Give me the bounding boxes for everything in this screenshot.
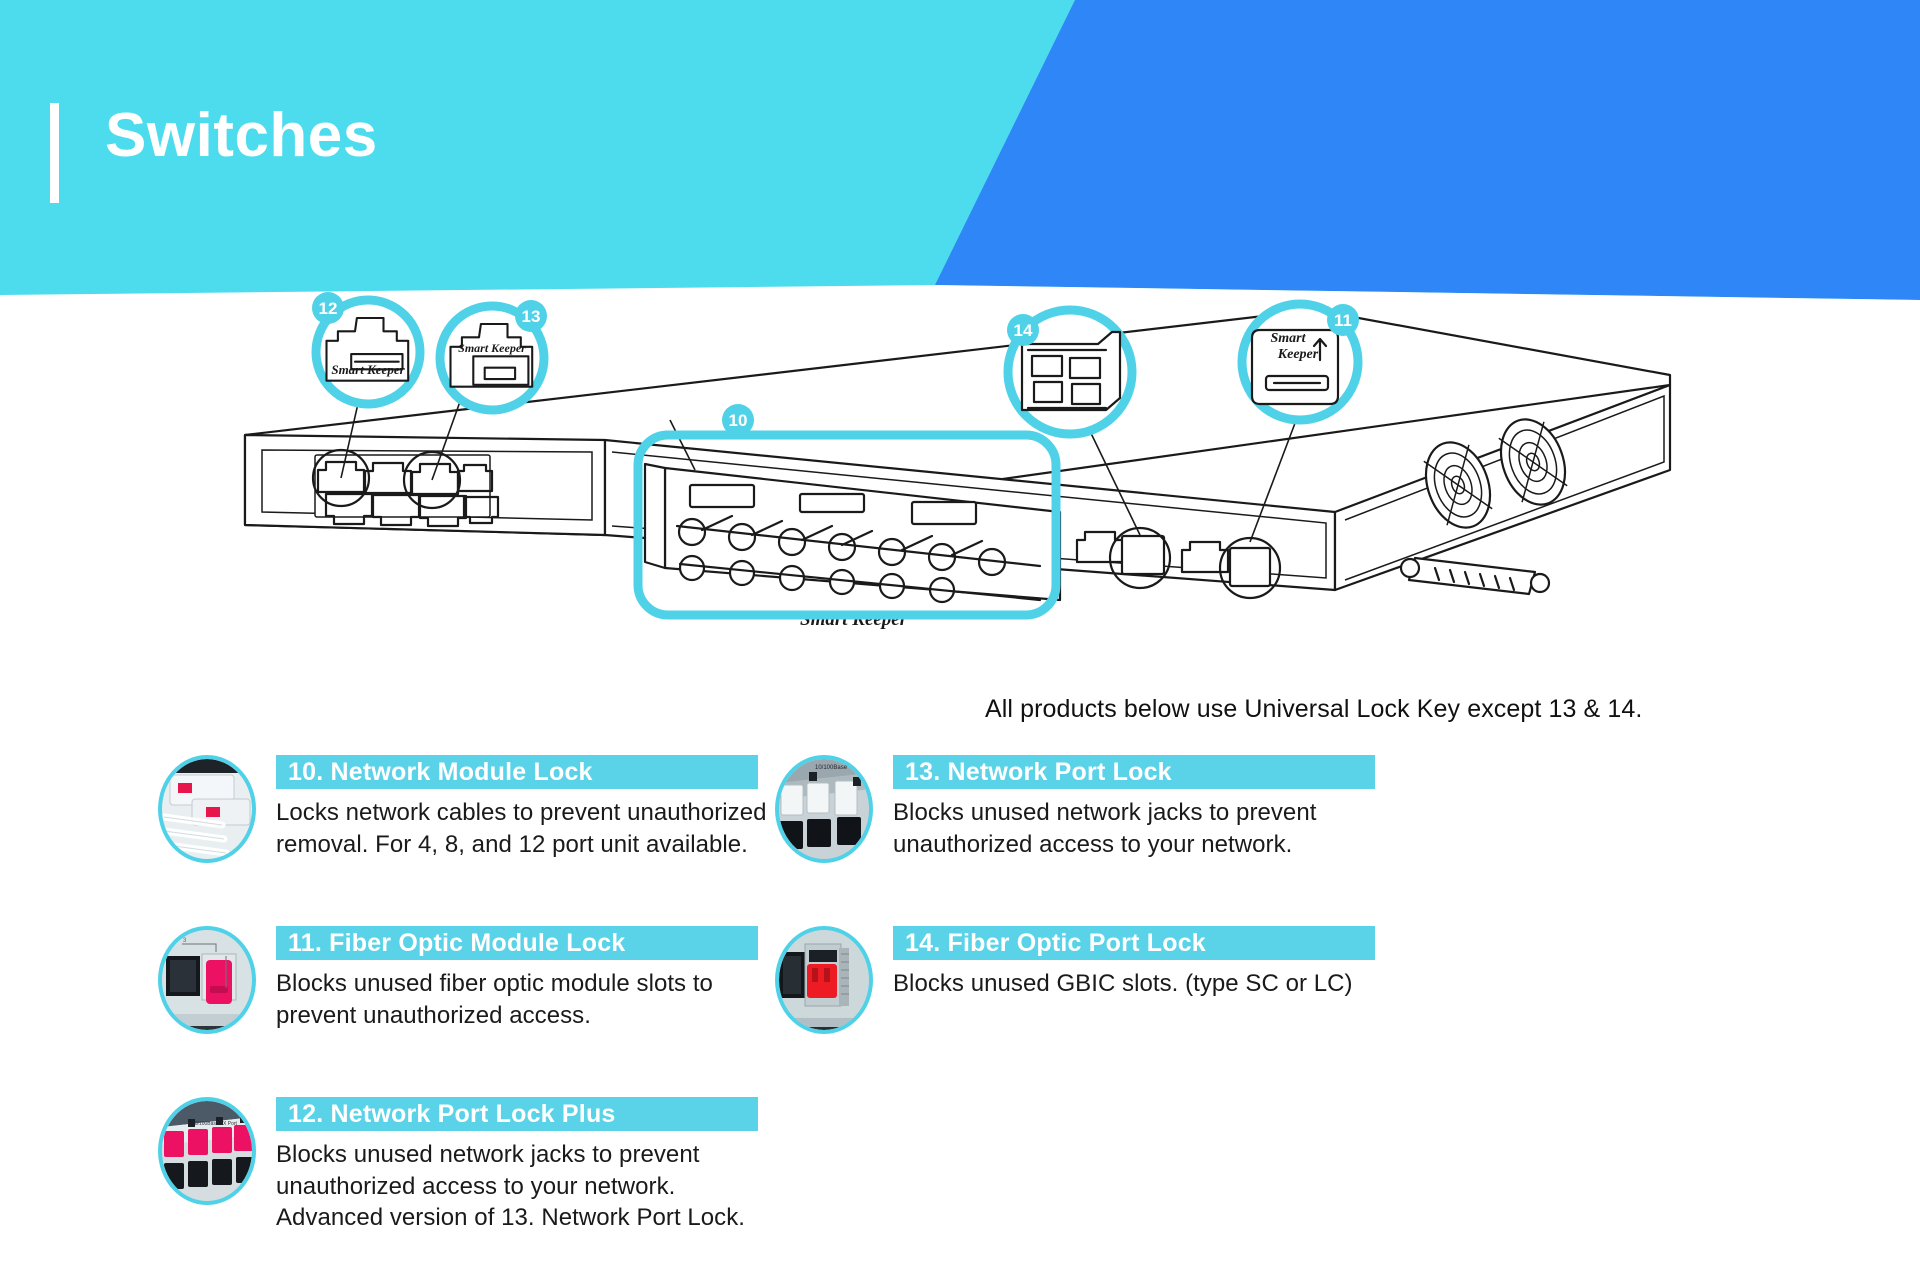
callout-11-brand-line2: Keeper (1277, 347, 1319, 362)
network-port-lock-image: 10/100Base (779, 759, 869, 859)
product-card-13-description: Blocks unused network jacks to prevent u… (893, 797, 1395, 860)
product-card-10-title: 10. Network Module Lock (276, 755, 758, 789)
callout-11-brand-line1: Smart (1270, 331, 1306, 346)
callout-badge-11-label: 11 (1334, 311, 1352, 330)
callout-badge-14-label: 14 (1014, 321, 1033, 340)
title-accent-bar (50, 103, 59, 203)
fiber-optic-port-lock-image (779, 930, 869, 1030)
network-port-lock-thumb-text: 10/100Base (815, 765, 848, 771)
network-port-lock-plus-image: 10/100Base TX Port (162, 1101, 252, 1201)
network-port-lock-plus-thumbnail: 10/100Base TX Port (158, 1097, 256, 1205)
product-column-right: 10/100Base 13. Network Port Lock Blocks … (775, 755, 1395, 1097)
product-card-13: 10/100Base 13. Network Port Lock Blocks … (775, 755, 1395, 890)
network-module-lock-image (162, 759, 252, 859)
product-card-12-title: 12. Network Port Lock Plus (276, 1097, 758, 1131)
callout-badge-13-label: 13 (522, 307, 541, 326)
product-card-14: 14. Fiber Optic Port Lock Blocks unused … (775, 926, 1395, 1061)
universal-key-note: All products below use Universal Lock Ke… (985, 695, 1642, 724)
callout-badge-10-label: 10 (729, 411, 748, 430)
fiber-optic-module-lock-thumbnail: 3 (158, 926, 256, 1034)
product-card-14-description: Blocks unused GBIC slots. (type SC or LC… (893, 968, 1395, 1000)
product-card-12: 10/100Base TX Port 12. Network Port Lock… (158, 1097, 778, 1247)
callout-badge-12-label: 12 (319, 299, 338, 318)
fiber-optic-module-lock-image: 3 (162, 930, 252, 1030)
callout-13-brand-label: Smart Keeper (458, 341, 526, 355)
product-card-11-description: Blocks unused fiber optic module slots t… (276, 968, 778, 1031)
fiber-optic-port-lock-thumbnail (775, 926, 873, 1034)
network-module-lock-thumbnail (158, 755, 256, 863)
product-column-left: 10. Network Module Lock Locks network ca… (158, 755, 778, 1283)
product-card-10: 10. Network Module Lock Locks network ca… (158, 755, 778, 890)
page-title: Switches (105, 105, 378, 167)
product-card-11-title: 11. Fiber Optic Module Lock (276, 926, 758, 960)
page-header: Switches (0, 0, 1920, 310)
product-card-14-title: 14. Fiber Optic Port Lock (893, 926, 1375, 960)
product-card-12-description: Blocks unused network jacks to prevent u… (276, 1139, 778, 1234)
svg-text:10/100Base TX Port: 10/100Base TX Port (192, 1121, 238, 1127)
switch-diagram: .ln{fill:none;stroke:#1a1a1a;stroke-widt… (240, 280, 1680, 680)
product-card-13-title: 13. Network Port Lock (893, 755, 1375, 789)
callout-12-brand-label: Smart Keeper (331, 362, 405, 377)
product-card-10-description: Locks network cables to prevent unauthor… (276, 797, 778, 860)
switch-illustration: .ln{fill:none;stroke:#1a1a1a;stroke-widt… (240, 280, 1680, 680)
product-card-11: 3 11. Fiber Optic Module Lock Blocks unu… (158, 926, 778, 1061)
header-blue-shape (935, 0, 1920, 300)
network-port-lock-thumbnail: 10/100Base (775, 755, 873, 863)
